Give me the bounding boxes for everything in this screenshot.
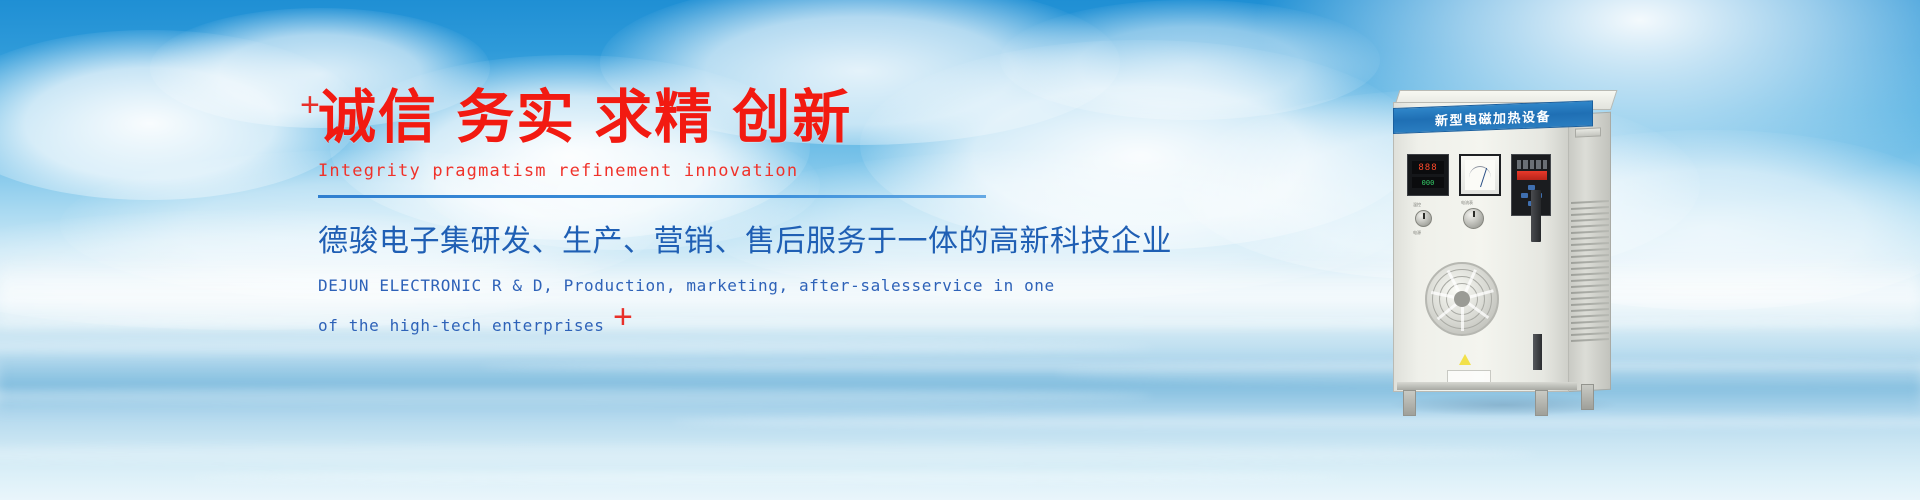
meter-scale-arc xyxy=(1469,166,1491,178)
cabinet-body xyxy=(1393,102,1569,392)
product-label-text: 新型电磁加热设备 xyxy=(1435,105,1551,128)
divider-line xyxy=(318,195,986,198)
water-streak xyxy=(0,340,1152,354)
display-primary-value: 888 xyxy=(1412,161,1444,174)
display-secondary-value: 000 xyxy=(1412,177,1444,188)
cabinet-handle-lower xyxy=(1533,334,1542,370)
cabinet-foot xyxy=(1403,390,1416,416)
control-knob-center xyxy=(1463,208,1484,229)
vent-grill xyxy=(1571,200,1609,347)
digital-display: 888 000 xyxy=(1407,154,1449,196)
cabinet-handle-upper xyxy=(1531,190,1541,242)
banner-text-block: 诚信 务实 求精 创新 Integrity pragmatism refinem… xyxy=(318,88,1038,340)
headline-chinese: 诚信 务实 求精 创新 xyxy=(318,88,1038,149)
subtitle-english-line-1: DEJUN ELECTRONIC R & D, Production, mark… xyxy=(318,272,1038,300)
promo-banner: + + 诚信 务实 求精 创新 Integrity pragmatism ref… xyxy=(0,0,1920,500)
keypad-left-icon xyxy=(1521,193,1528,198)
cabinet-hatch xyxy=(1575,127,1601,137)
water-streak xyxy=(0,445,1536,463)
controller-indicator-bars xyxy=(1517,160,1547,169)
knob-label-left: 温控 xyxy=(1413,202,1421,208)
water-streak xyxy=(192,472,1344,482)
cabinet-foot xyxy=(1581,384,1594,410)
product-image-heating-cabinet: 新型电磁加热设备 888 000 xyxy=(1385,72,1617,422)
subtitle-english-line-2: of the high-tech enterprises xyxy=(318,312,1038,340)
knob-label-center: 电流表 xyxy=(1461,200,1473,206)
fan-hub xyxy=(1454,291,1470,307)
cooling-fan xyxy=(1425,262,1499,336)
plus-decoration-icon: + xyxy=(300,88,320,122)
controller-red-display xyxy=(1517,171,1547,180)
water-streak xyxy=(672,416,1920,428)
cabinet-foot xyxy=(1535,390,1548,416)
cabinet-base-bar xyxy=(1397,382,1577,390)
control-knob-left xyxy=(1415,210,1432,227)
meter-face xyxy=(1465,160,1495,190)
headline-english: Integrity pragmatism refinement innovati… xyxy=(318,161,1038,181)
subtitle-chinese: 德骏电子集研发、生产、营销、售后服务于一体的高新科技企业 xyxy=(318,216,1038,260)
analog-ammeter xyxy=(1459,154,1501,196)
knob-label-bottom: 电源 xyxy=(1413,230,1421,236)
